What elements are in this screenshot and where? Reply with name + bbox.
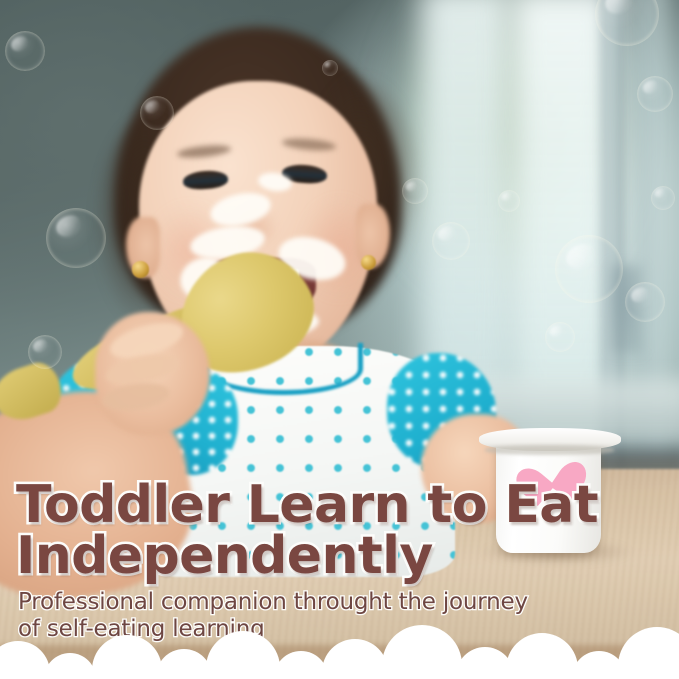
bubble-left-lower xyxy=(28,335,62,369)
subtitle: Professional companion throught the jour… xyxy=(18,589,656,643)
bubble-mid-right xyxy=(432,222,470,260)
marketing-text-block: Toddler Learn to Eat Independently Profe… xyxy=(16,480,656,643)
bubble-sill xyxy=(498,190,520,212)
bubble-window-large xyxy=(555,235,623,303)
product-lifestyle-banner: Toddler Learn to Eat Independently Profe… xyxy=(0,0,679,679)
earring-left xyxy=(132,261,148,277)
bubble-edge-right xyxy=(651,186,675,210)
bubble-face-right xyxy=(402,178,428,204)
bubble-top-left xyxy=(5,31,45,71)
headline: Toddler Learn to Eat Independently xyxy=(16,480,656,582)
bubble-top-right-small xyxy=(637,76,673,112)
bubble-left-mid xyxy=(46,208,106,268)
bubble-tiny-center xyxy=(322,60,338,76)
earring-right xyxy=(361,255,376,270)
bubble-window-right xyxy=(625,282,665,322)
bubble-lower-right xyxy=(545,322,575,352)
bubble-center-hair xyxy=(140,96,174,130)
